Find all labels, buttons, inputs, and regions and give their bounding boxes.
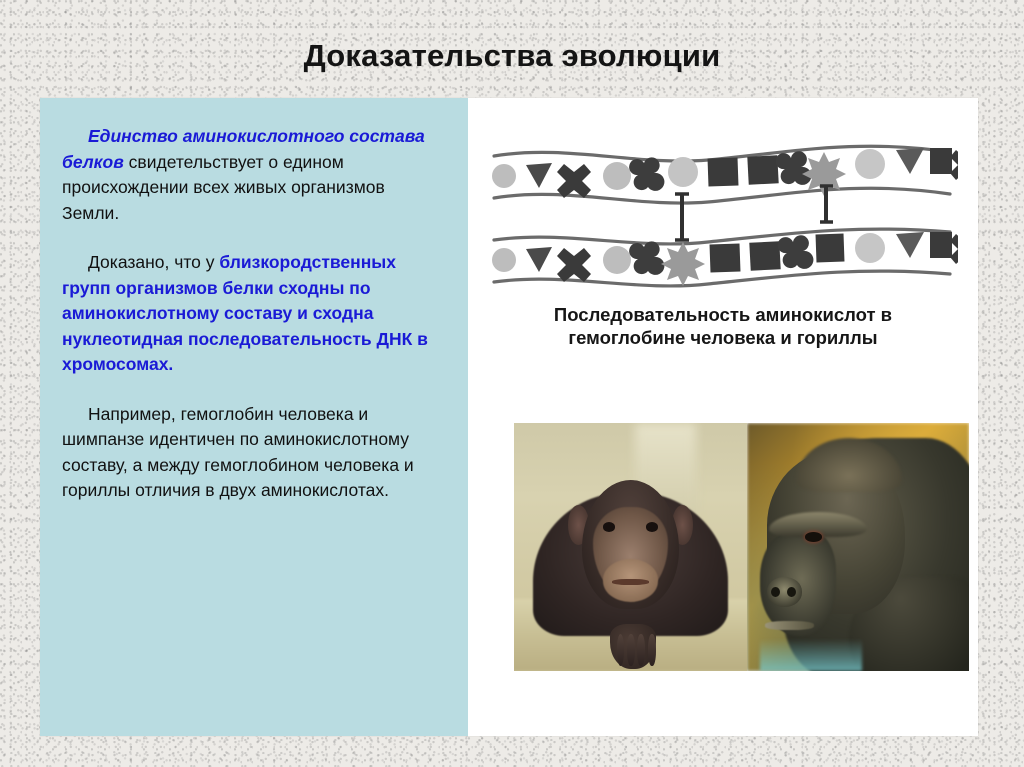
- human-hemoglobin-chain: [492, 146, 958, 203]
- chimp-finger-2: [627, 634, 635, 666]
- content-card: Единство аминокислотного состава белков …: [40, 98, 978, 736]
- paragraph-unity-of-amino-acids: Единство аминокислотного состава белков …: [62, 124, 442, 226]
- caption-line-2: гемоглобине человека и гориллы: [568, 327, 877, 348]
- gorilla-nostril-right: [787, 587, 796, 597]
- gorilla-hemoglobin-chain: [492, 229, 958, 286]
- paragraph-related-groups: Доказано, что у близкородственных групп …: [62, 250, 442, 378]
- paragraph-2-lead: Доказано, что у: [88, 252, 219, 272]
- difference-marker-1: [675, 194, 689, 240]
- gorilla-mouth: [765, 621, 814, 630]
- diagram-caption: Последовательность аминокислот в гемогло…: [488, 303, 958, 349]
- amino-acid-sequence-diagram: [486, 136, 958, 288]
- chimp-finger-4: [648, 634, 656, 666]
- text-panel: Единство аминокислотного состава белков …: [40, 98, 468, 736]
- gorilla-photo: [747, 423, 969, 671]
- photo-strip: [514, 423, 969, 671]
- caption-line-1: Последовательность аминокислот в: [554, 304, 892, 325]
- gorilla-nostril-left: [771, 587, 780, 597]
- gorilla-foreground-teal: [760, 639, 862, 671]
- chimp-mouth: [612, 579, 649, 585]
- page-title: Доказательства эволюции: [0, 38, 1024, 74]
- chimpanzee-photo: [514, 423, 747, 671]
- media-panel: Последовательность аминокислот в гемогло…: [468, 98, 978, 736]
- paragraph-hemoglobin-example: Например, гемоглобин человека и шимпанзе…: [62, 402, 442, 504]
